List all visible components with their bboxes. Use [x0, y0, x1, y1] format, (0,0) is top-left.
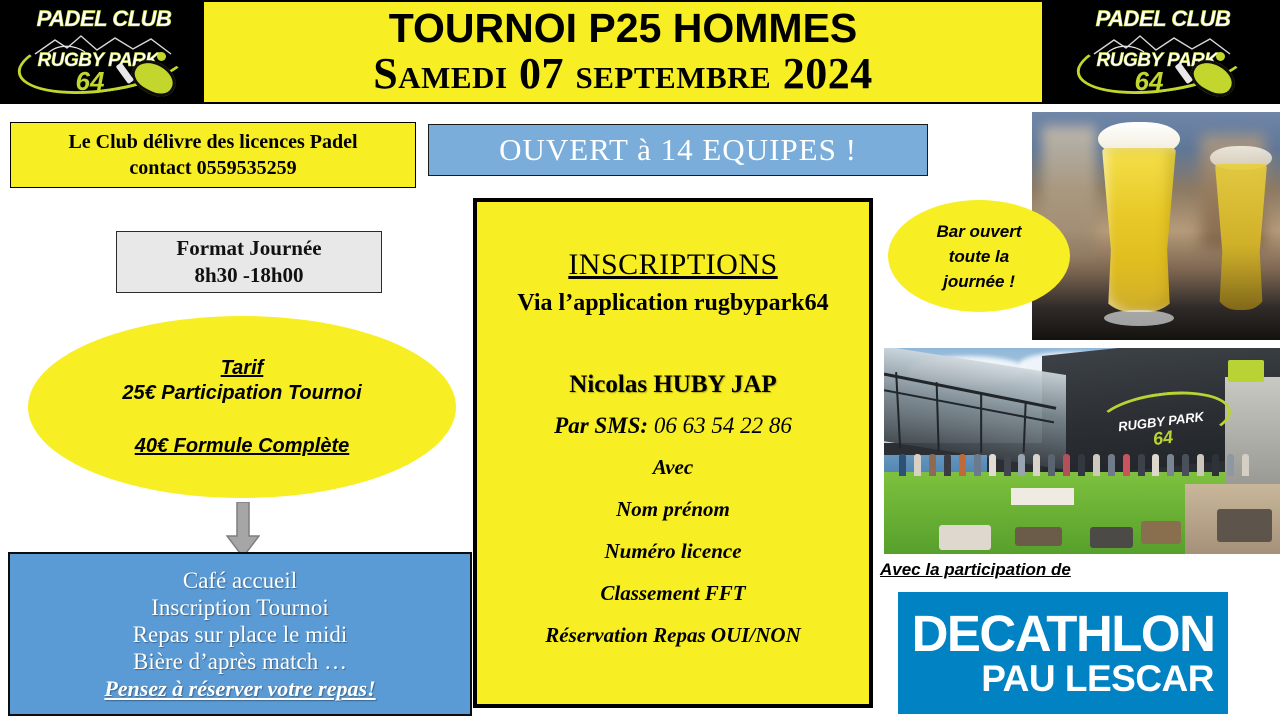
meal-reservation-note: Pensez à réserver votre repas! — [104, 675, 375, 702]
sponsor-intro-text: Avec la participation de — [880, 560, 1071, 580]
page-subtitle-date: Samedi 07 septembre 2024 — [373, 50, 872, 98]
photo-furniture — [1141, 521, 1181, 544]
registration-sms-row: Par SMS: 06 63 54 22 86 — [554, 413, 792, 439]
format-line-1: Format Journée — [176, 235, 321, 262]
service-line: Bière d’après match … — [133, 648, 347, 675]
capacity-banner: OUVERT à 14 EQUIPES ! — [428, 124, 928, 176]
decathlon-store: PAU LESCAR — [981, 660, 1214, 698]
logo-graphic: PADEL CLUB RUGBY PARK 64 — [7, 4, 197, 100]
registration-item: Classement FFT — [600, 581, 745, 606]
decathlon-name: DECATHLON — [912, 608, 1215, 660]
registration-box: INSCRIPTIONS Via l’application rugbypark… — [473, 198, 873, 708]
logo-padel-club-text: PADEL CLUB — [13, 6, 195, 32]
bar-line-3: journée ! — [943, 269, 1015, 294]
photo-logo-badge — [1228, 360, 1264, 382]
service-line: Café accueil — [183, 567, 297, 594]
photo-table — [1011, 488, 1074, 504]
services-box: Café accueil Inscription Tournoi Repas s… — [8, 552, 472, 716]
capacity-text: OUVERT à 14 EQUIPES ! — [499, 132, 857, 168]
beer-photo — [1032, 112, 1280, 340]
registration-item: Nom prénom — [616, 497, 730, 522]
logo-ball-icon — [157, 52, 166, 61]
poster-title-band: TOURNOI P25 HOMMES Samedi 07 septembre 2… — [204, 2, 1042, 102]
registration-item: Numéro licence — [604, 539, 741, 564]
registration-subtitle: Via l’application rugbypark64 — [517, 290, 828, 317]
logo-graphic: PADEL CLUB RUGBY PARK 64 — [1066, 4, 1256, 100]
pricing-ellipse: Tarif 25€ Participation Tournoi 40€ Form… — [28, 316, 456, 498]
arrow-down-icon — [226, 502, 260, 558]
club-logo-right: PADEL CLUB RUGBY PARK 64 — [1042, 0, 1280, 104]
bar-open-ellipse: Bar ouvert toute la journée ! — [888, 200, 1070, 312]
bar-line-1: Bar ouvert — [936, 219, 1021, 244]
format-line-2: 8h30 -18h00 — [194, 262, 303, 289]
beer-glass-main — [1096, 122, 1182, 318]
canopy-frame-icon — [884, 364, 1066, 455]
service-line: Repas sur place le midi — [133, 621, 348, 648]
photo-furniture — [1090, 527, 1134, 548]
sms-label: Par SMS: — [554, 413, 648, 438]
beer-glass-secondary — [1210, 146, 1272, 316]
padel-club-photo: RUGBY PARK 64 — [884, 348, 1280, 554]
club-logo-left: PADEL CLUB RUGBY PARK 64 — [0, 0, 204, 104]
photo-furniture — [1217, 509, 1272, 542]
sms-number: 06 63 54 22 86 — [654, 413, 792, 438]
pricing-title: Tarif — [221, 357, 264, 380]
licence-line-2: contact 0559535259 — [129, 155, 296, 181]
tournament-poster: PADEL CLUB RUGBY PARK 64 TOURNOI P25 HOM… — [0, 0, 1280, 720]
format-box: Format Journée 8h30 -18h00 — [116, 231, 382, 293]
bar-line-2: toute la — [949, 244, 1009, 269]
service-line: Inscription Tournoi — [151, 594, 328, 621]
licence-line-1: Le Club délivre des licences Padel — [68, 129, 357, 155]
photo-furniture — [939, 525, 990, 550]
registration-item: Réservation Repas OUI/NON — [545, 623, 801, 648]
pricing-line-2: 40€ Formule Complète — [135, 435, 350, 458]
registration-title: INSCRIPTIONS — [568, 248, 777, 282]
pricing-line-1: 25€ Participation Tournoi — [122, 382, 361, 405]
registration-item: Avec — [653, 455, 693, 480]
logo-ball-icon — [1216, 52, 1225, 61]
photo-crowd — [892, 443, 1264, 476]
decathlon-logo: DECATHLON PAU LESCAR — [898, 592, 1228, 714]
page-title: TOURNOI P25 HOMMES — [389, 6, 858, 50]
registration-contact-name: Nicolas HUBY JAP — [569, 371, 776, 399]
photo-furniture — [1015, 527, 1063, 546]
licence-info-box: Le Club délivre des licences Padel conta… — [10, 122, 416, 188]
logo-padel-club-text: PADEL CLUB — [1072, 6, 1254, 32]
